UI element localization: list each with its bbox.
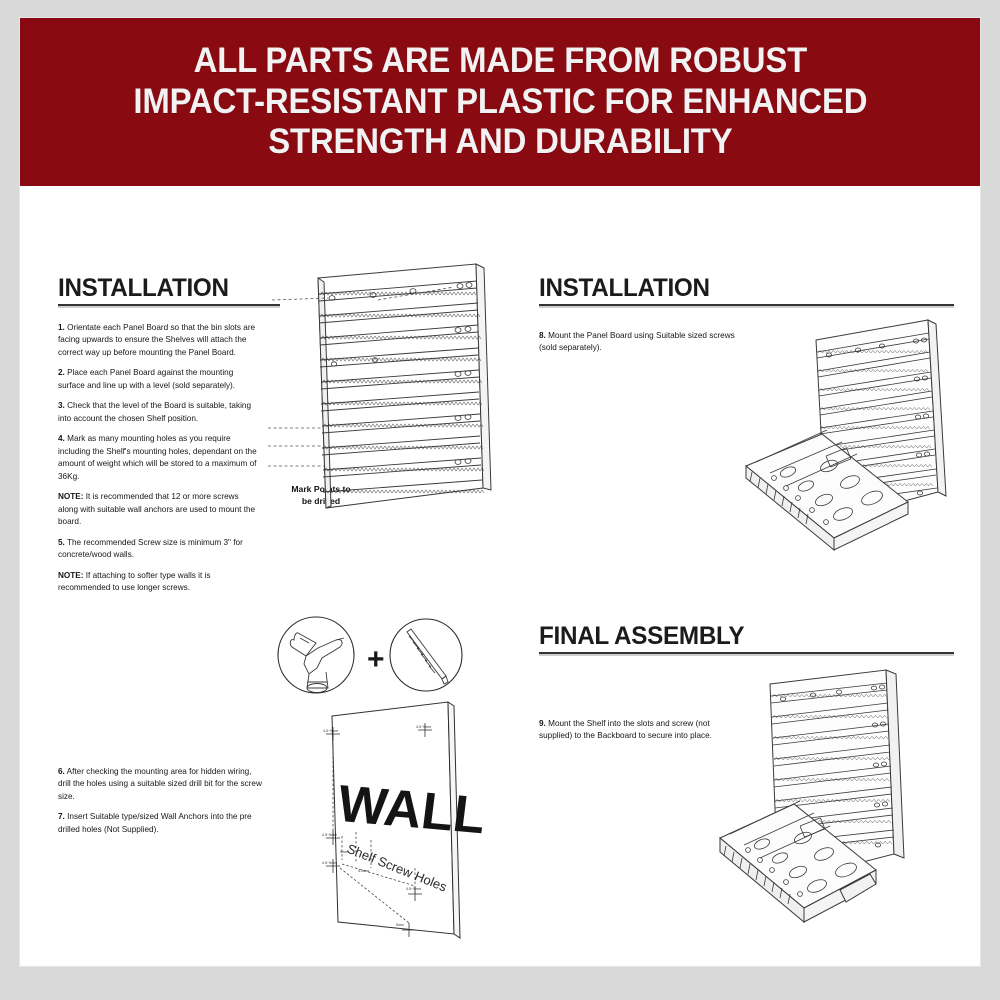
steps-installation-right: 8. Mount the Panel Board using Suitable … [539,330,744,355]
headline-banner: ALL PARTS ARE MADE FROM ROBUST IMPACT-RE… [20,18,980,186]
steps-installation-left: 1. Orientate each Panel Board so that th… [58,322,258,594]
heading-installation-left: INSTALLATION [58,274,229,303]
power-drill-icon [290,633,344,693]
step-7-text: Insert Suitable type/sized Wall Anchors … [58,812,252,833]
step-4: 4. Mark as many mounting holes as you re… [58,433,258,483]
svg-text:4.5mm: 4.5mm [358,869,369,873]
svg-text:4.5~5mm: 4.5~5mm [322,833,337,837]
page-root: ALL PARTS ARE MADE FROM ROBUST IMPACT-RE… [0,0,1000,1000]
step-1-num: 1. [58,323,65,332]
step-5: 5. The recommended Screw size is minimum… [58,537,258,562]
step-2-text: Place each Panel Board against the mount… [58,368,235,389]
note-1: NOTE: It is recommended that 12 or more … [58,491,258,528]
steps-final-assembly: 9. Mount the Shelf into the slots and sc… [539,718,729,743]
drill-bit-icon [407,629,448,684]
step-8-num: 8. [539,331,546,340]
step-2: 2. Place each Panel Board against the mo… [58,367,258,392]
diagram-panel-board-perspective [278,260,498,510]
step-5-text: The recommended Screw size is minimum 3"… [58,538,243,559]
step-6-text: After checking the mounting area for hid… [58,767,262,801]
svg-text:4.5~5mm: 4.5~5mm [406,887,421,891]
heading-rule-installation-left [58,304,280,308]
step-5-num: 5. [58,538,65,547]
step-4-text: Mark as many mounting holes as you requi… [58,434,257,480]
svg-text:4.5~5mm: 4.5~5mm [416,725,431,729]
step-3: 3. Check that the level of the Board is … [58,400,258,425]
step-7-num: 7. [58,812,65,821]
plus-icon: + [367,645,385,675]
steps-drilling: 6. After checking the mounting area for … [58,766,263,836]
step-6-num: 6. [58,767,65,776]
diagram-panel-board-with-shelf [730,306,970,546]
diagram-assembled-shelf-unit [708,658,958,933]
step-3-num: 3. [58,401,65,410]
note-2-label: NOTE: [58,571,83,580]
step-3-text: Check that the level of the Board is sui… [58,401,251,422]
svg-text:5mm: 5mm [396,923,404,927]
step-6: 6. After checking the mounting area for … [58,766,263,803]
step-1-text: Orientate each Panel Board so that the b… [58,323,255,357]
heading-final-assembly: FINAL ASSEMBLY [539,622,744,651]
step-7: 7. Insert Suitable type/sized Wall Ancho… [58,811,263,836]
svg-text:4.5~5mm: 4.5~5mm [323,729,338,733]
step-9-num: 9. [539,719,546,728]
heading-rule-final-assembly [539,652,954,656]
step-9: 9. Mount the Shelf into the slots and sc… [539,718,729,743]
step-8: 8. Mount the Panel Board using Suitable … [539,330,744,355]
note-1-text: It is recommended that 12 or more screws… [58,492,255,526]
headline-text: ALL PARTS ARE MADE FROM ROBUST IMPACT-RE… [133,41,867,164]
step-1: 1. Orientate each Panel Board so that th… [58,322,258,359]
step-4-num: 4. [58,434,65,443]
svg-text:4.5~5mm: 4.5~5mm [322,861,337,865]
diagram-wall-marking: 4.5~5mm 4.5~5mm 4.5~5mm 4.5~5mm 5mm 4.5m… [296,690,526,945]
instruction-sheet: ALL PARTS ARE MADE FROM ROBUST IMPACT-RE… [20,18,980,966]
heading-installation-right: INSTALLATION [539,274,710,303]
step-2-num: 2. [58,368,65,377]
step-9-text: Mount the Shelf into the slots and screw… [539,719,712,740]
step-8-text: Mount the Panel Board using Suitable siz… [539,331,735,352]
note-2: NOTE: If attaching to softer type walls … [58,570,258,595]
note-1-label: NOTE: [58,492,83,501]
